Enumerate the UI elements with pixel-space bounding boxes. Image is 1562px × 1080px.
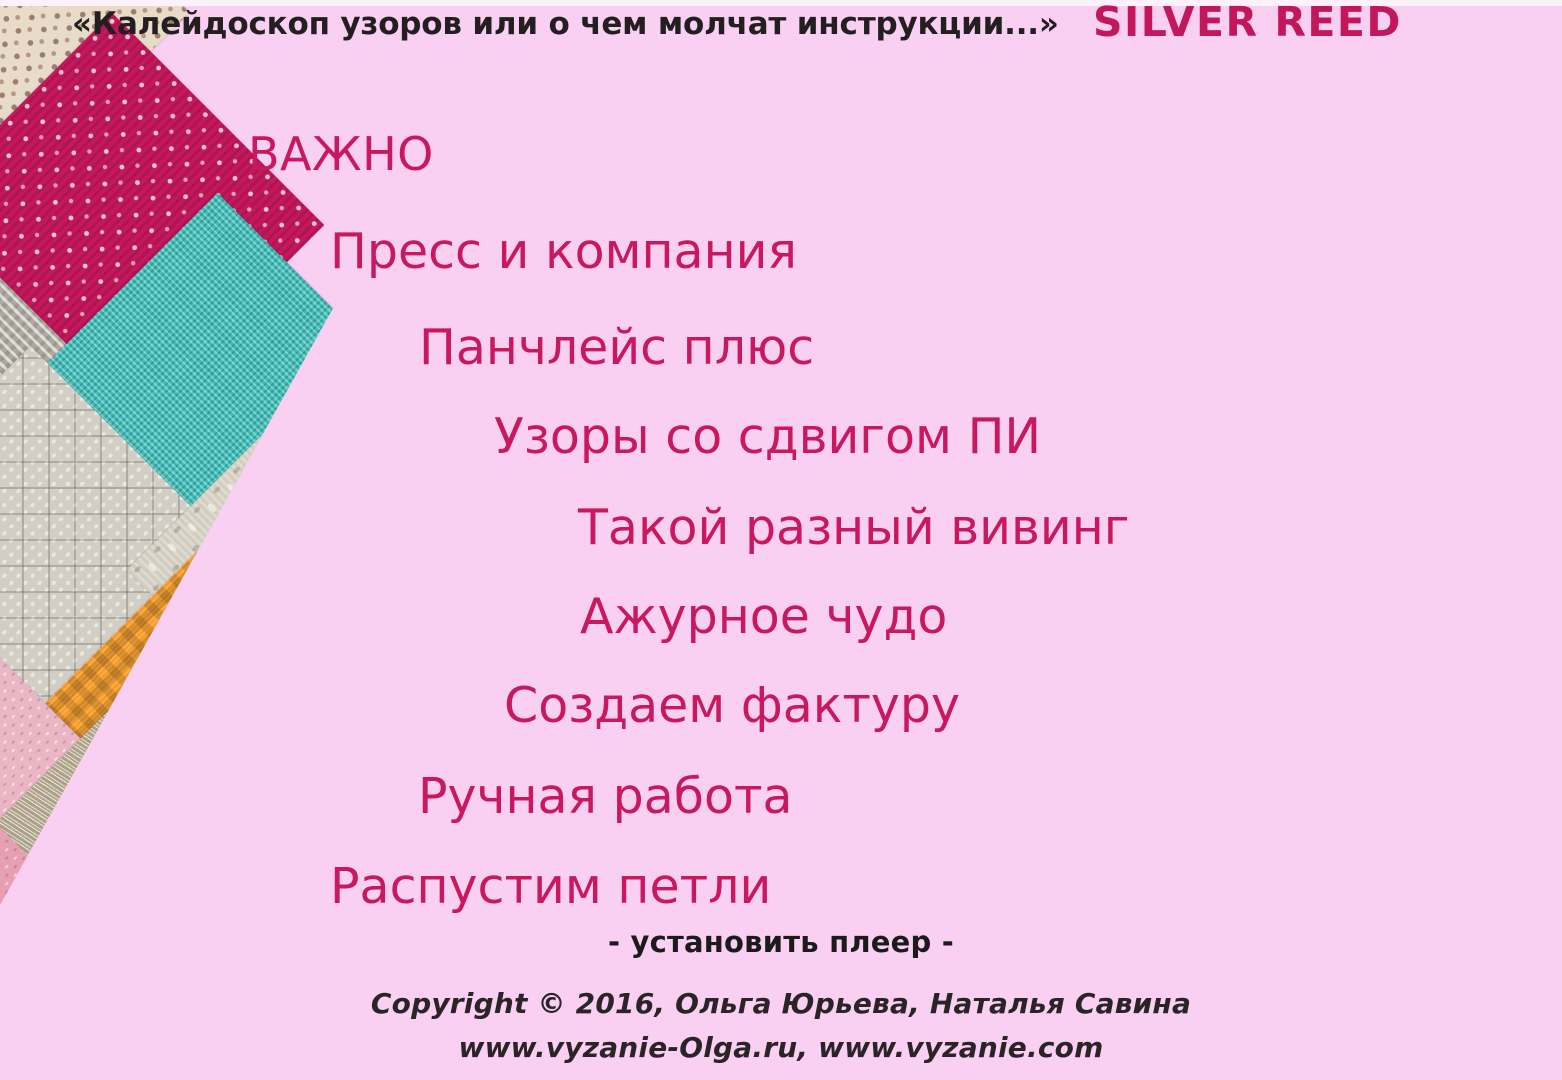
website-line: www.vyzanie-Olga.ru, www.vyzanie.com <box>0 1031 1562 1064</box>
copyright-line: Copyright © 2016, Ольга Юрьева, Наталья … <box>0 987 1562 1020</box>
page-title: «Калейдоскоп узоров или о чем молчат инс… <box>72 6 1059 42</box>
brand-logo-silver-reed: SILVER REED <box>1093 0 1402 46</box>
topic-list-item[interactable]: Пресс и компания <box>330 227 797 276</box>
topic-list-item[interactable]: Такой разный вивинг <box>578 503 1130 552</box>
slide-canvas: «Калейдоскоп узоров или о чем молчат инс… <box>0 0 1562 1080</box>
topic-list-item[interactable]: Панчлейс плюс <box>419 323 814 372</box>
topic-list-item[interactable]: Ажурное чудо <box>580 592 947 641</box>
topic-list-item[interactable]: Узоры со сдвигом ПИ <box>494 412 1041 461</box>
topic-list-item[interactable]: Ручная работа <box>418 772 793 821</box>
topic-list-item[interactable]: Распустим петли <box>330 862 771 911</box>
topic-list-item[interactable]: ВАЖНО <box>248 131 434 177</box>
topic-list-item[interactable]: Создаем фактуру <box>504 681 960 730</box>
install-player-note: - установить плеер - <box>0 925 1562 959</box>
